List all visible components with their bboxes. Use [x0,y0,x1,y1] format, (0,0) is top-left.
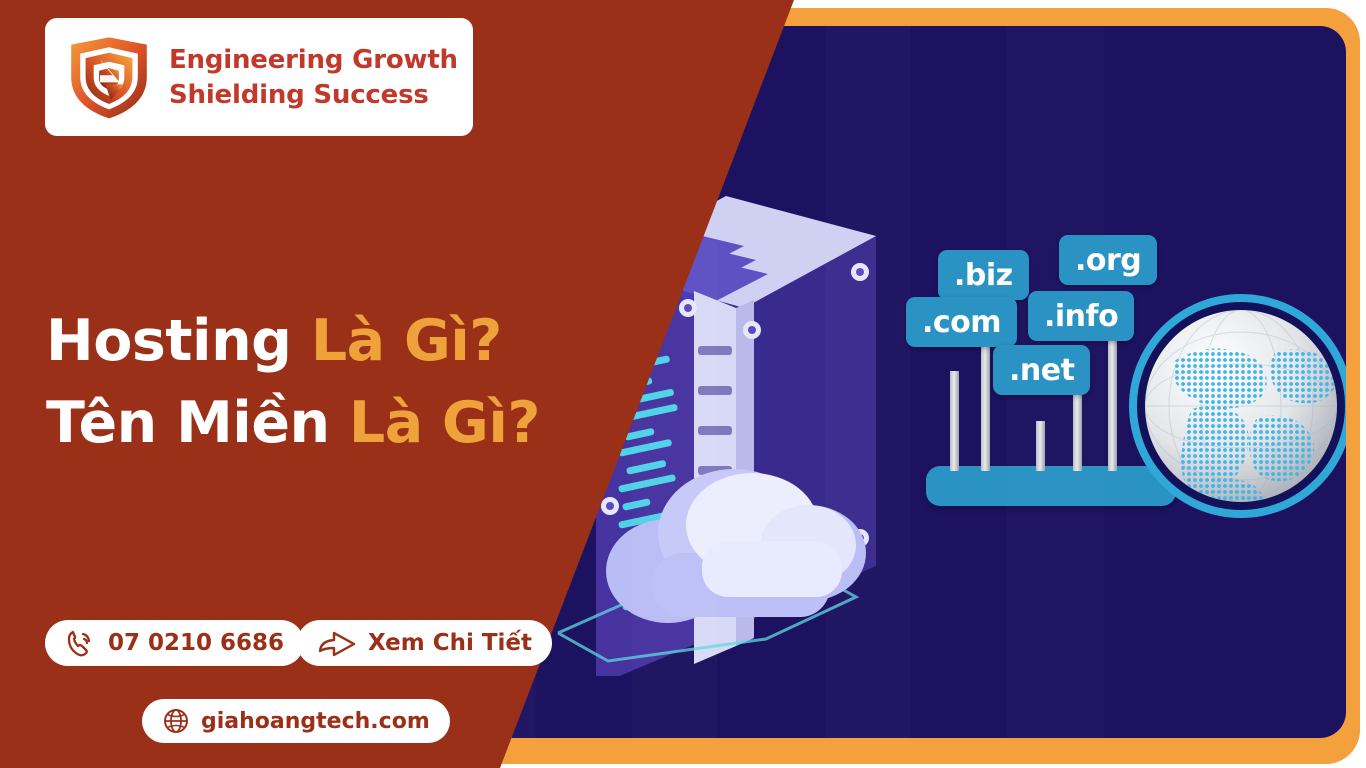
tag-post [1036,421,1045,471]
logo-card[interactable]: Engineering Growth Shielding Success [45,18,473,136]
curved-arrow-right-icon [317,629,357,657]
headline-line-1-white: Hosting [46,308,311,374]
logo-tagline-line-1: Engineering Growth [169,45,458,75]
dotted-globe-icon [1126,291,1346,521]
domain-tag-org: .org [1059,235,1157,285]
headline-line-2: Tên Miền Là Gì? [46,382,606,464]
domain-tag-info: .info [1028,291,1134,341]
phone-button[interactable]: 07 0210 6686 [45,620,304,666]
phone-number: 07 0210 6686 [108,630,284,656]
domain-tag-net: .net [993,345,1090,395]
headline-line-1-accent: Là Gì? [311,308,502,374]
logo-tagline-line-2: Shielding Success [169,80,458,110]
shield-logo-icon [63,32,155,122]
headline-line-2-accent: Là Gì? [349,390,540,456]
domain-tag-biz: .biz [938,250,1029,300]
view-detail-button[interactable]: Xem Chi Tiết [297,620,552,666]
promo-banner: .org.biz.info.com.net [0,0,1366,768]
website-label: giahoangtech.com [201,709,430,734]
phone-call-icon [65,627,97,659]
domain-tag-com: .com [906,297,1017,347]
headline-line-1: Hosting Là Gì? [46,300,606,382]
website-button[interactable]: giahoangtech.com [142,699,450,743]
tag-post [981,326,990,471]
view-detail-label: Xem Chi Tiết [368,630,532,656]
tag-post [950,371,959,471]
headline-line-2-white: Tên Miền [46,390,349,456]
globe-icon [162,707,190,735]
page-title: Hosting Là Gì? Tên Miền Là Gì? [46,300,606,464]
